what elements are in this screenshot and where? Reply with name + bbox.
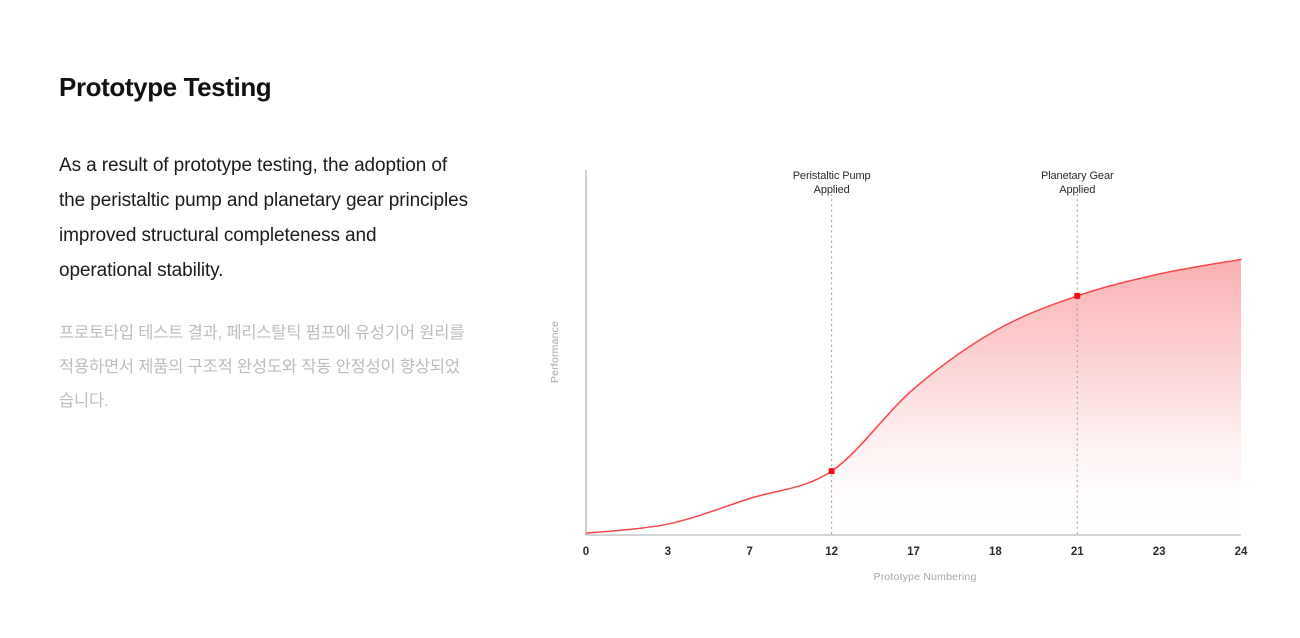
x-tick-21: 21 — [1071, 546, 1084, 558]
data-point-marker-12[interactable] — [829, 468, 835, 474]
x-tick-12: 12 — [825, 546, 838, 558]
performance-chart: Performance Prototype Numbering Peristal… — [540, 150, 1260, 600]
text-panel: Prototype Testing As a result of prototy… — [59, 72, 489, 418]
summary-paragraph-korean: 프로토타입 테스트 결과, 페리스탈틱 펌프에 유성기어 원리를 적용하면서 제… — [59, 316, 469, 418]
chart-svg: Performance Prototype Numbering Peristal… — [540, 150, 1260, 600]
annotation-labels: Peristaltic PumpAppliedPlanetary GearApp… — [793, 170, 1114, 196]
x-tick-7: 7 — [747, 546, 753, 558]
chart-area-fill — [832, 259, 1241, 535]
x-tick-17: 17 — [907, 546, 920, 558]
x-tick-18: 18 — [989, 546, 1002, 558]
annotation-peristaltic-pump-line2: Applied — [814, 184, 850, 196]
summary-paragraph-english: As a result of prototype testing, the ad… — [59, 149, 469, 288]
x-axis-tick-labels: 037121718212324 — [583, 546, 1248, 558]
x-tick-23: 23 — [1153, 546, 1166, 558]
data-point-marker-21[interactable] — [1074, 293, 1080, 299]
annotation-planetary-gear-line1: Planetary Gear — [1041, 170, 1114, 182]
x-tick-24: 24 — [1235, 546, 1248, 558]
x-tick-0: 0 — [583, 546, 589, 558]
annotation-planetary-gear-line2: Applied — [1059, 184, 1095, 196]
x-tick-3: 3 — [665, 546, 671, 558]
y-axis-title: Performance — [549, 321, 561, 383]
page-title: Prototype Testing — [59, 72, 489, 103]
annotation-peristaltic-pump-line1: Peristaltic Pump — [793, 170, 871, 182]
x-axis-title: Prototype Numbering — [873, 571, 976, 583]
